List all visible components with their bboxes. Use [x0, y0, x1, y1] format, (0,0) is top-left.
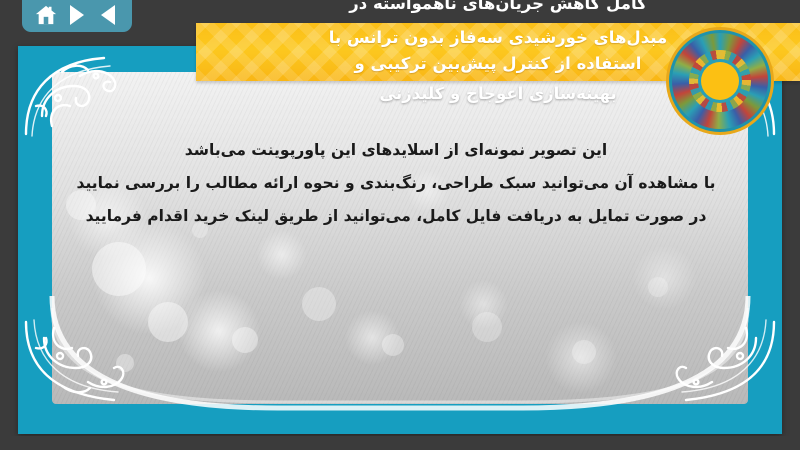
- slide-body-text: این تصویر نمونه‌ای از اسلایدهای این پاور…: [60, 138, 732, 237]
- title-line-1: کامل کاهش جریان‌های ناهمواسته در: [196, 0, 800, 13]
- bokeh-blob: [92, 242, 146, 296]
- slide-card: [18, 46, 782, 434]
- arrow-right-icon: [70, 5, 84, 25]
- home-button[interactable]: [35, 4, 57, 26]
- decorative-medallion-icon: [672, 33, 768, 129]
- body-line-3: در صورت تمایل به دریافت فایل کامل، می‌تو…: [60, 204, 732, 229]
- bokeh-blob: [382, 334, 404, 356]
- home-icon: [35, 4, 57, 26]
- bokeh-blob: [648, 277, 668, 297]
- slide-viewer-stage: این تصویر نمونه‌ای از اسلایدهای این پاور…: [0, 0, 800, 450]
- slide-content-area: [52, 72, 748, 404]
- bokeh-blob: [116, 354, 134, 372]
- bottom-bar: [0, 436, 800, 450]
- navigation-controls: [22, 0, 132, 32]
- title-line-1-strip: کامل کاهش جریان‌های ناهمواسته در: [196, 0, 800, 23]
- next-slide-button[interactable]: [66, 4, 88, 26]
- bokeh-blob: [232, 327, 258, 353]
- body-line-1: این تصویر نمونه‌ای از اسلایدهای این پاور…: [60, 138, 732, 163]
- bokeh-blob: [472, 312, 502, 342]
- bokeh-blob: [572, 340, 596, 364]
- arrow-left-icon: [101, 5, 115, 25]
- bokeh-blob: [148, 302, 188, 342]
- body-line-2: با مشاهده آن می‌توانید سبک طراحی، رنگ‌بن…: [60, 171, 732, 196]
- bokeh-blob: [302, 287, 336, 321]
- previous-slide-button[interactable]: [97, 4, 119, 26]
